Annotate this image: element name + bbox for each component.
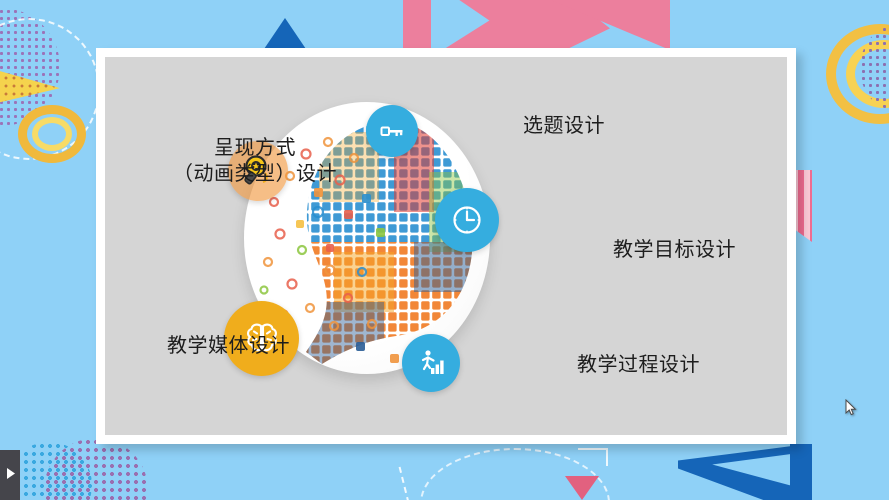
play-icon[interactable]	[7, 468, 15, 479]
pink-arrow-secondary-decoration	[550, 0, 670, 50]
node-teaching-process-design[interactable]	[402, 334, 460, 392]
node-topic-design[interactable]	[366, 105, 418, 157]
key-icon	[379, 118, 405, 144]
blue-halftone-circle-decoration	[6, 442, 92, 500]
dashed-circle-bottom-decoration	[420, 448, 610, 500]
blue-chevron-decoration	[678, 446, 868, 500]
zigzag-decoration	[578, 448, 608, 466]
person-chart-icon	[416, 348, 446, 378]
label-topic-design: 选题设计	[523, 113, 605, 139]
slide-frame: 选题设计 教学目标设计 教学过程设计 教学媒体设计 呈现方式 （动画类型）设计	[96, 48, 796, 444]
yellow-dotted-triangle-decoration	[0, 58, 60, 110]
label-teaching-goal-design: 教学目标设计	[613, 237, 736, 263]
node-teaching-goal-design[interactable]	[435, 188, 499, 252]
blue-bar-decoration	[790, 444, 812, 500]
label-teaching-process-design: 教学过程设计	[577, 352, 700, 378]
yellow-ring-decoration	[18, 105, 86, 163]
purple-halftone-right-decoration	[860, 26, 889, 110]
purple-halftone-circle-2-decoration	[44, 438, 148, 500]
presentation-canvas: 选题设计 教学目标设计 教学过程设计 教学媒体设计 呈现方式 （动画类型）设计	[0, 0, 889, 500]
mouse-cursor-icon	[845, 399, 857, 417]
slide-content: 选题设计 教学目标设计 教学过程设计 教学媒体设计 呈现方式 （动画类型）设计	[105, 57, 787, 435]
playback-panel[interactable]	[0, 450, 20, 500]
pink-triangle-decoration	[565, 476, 599, 500]
clock-icon	[450, 203, 484, 237]
label-teaching-media-design: 教学媒体设计	[167, 333, 290, 359]
yellow-outer-ring-right-decoration	[826, 24, 889, 124]
dashed-circle-decoration	[0, 18, 100, 160]
label-presentation-mode-design: 呈现方式 （动画类型）设计	[173, 135, 337, 186]
yellow-inner-ring-right-decoration	[846, 40, 889, 108]
yellow-inner-ring-decoration	[32, 117, 72, 151]
purple-halftone-circle-decoration	[0, 8, 60, 126]
blue-triangle-decoration	[262, 18, 308, 52]
